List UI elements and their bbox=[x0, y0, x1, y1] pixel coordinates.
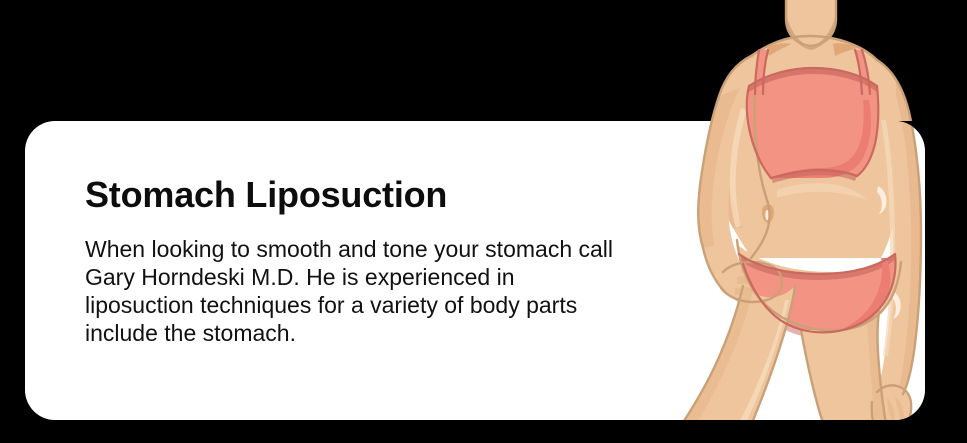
page-title: Stomach Liposuction bbox=[85, 174, 710, 216]
bra-strap-right bbox=[855, 50, 870, 94]
text-block: Stomach Liposuction When looking to smoo… bbox=[85, 174, 710, 347]
promo-banner: Stomach Liposuction When looking to smoo… bbox=[0, 0, 967, 443]
bra-neckline bbox=[749, 68, 877, 92]
neck bbox=[786, 0, 836, 46]
body-paragraph: When looking to smooth and tone your sto… bbox=[85, 216, 710, 347]
collarbone-right bbox=[833, 43, 857, 56]
bra-strap-left bbox=[755, 50, 768, 94]
neck-shadow bbox=[786, 14, 836, 50]
collarbone-left bbox=[767, 43, 791, 56]
